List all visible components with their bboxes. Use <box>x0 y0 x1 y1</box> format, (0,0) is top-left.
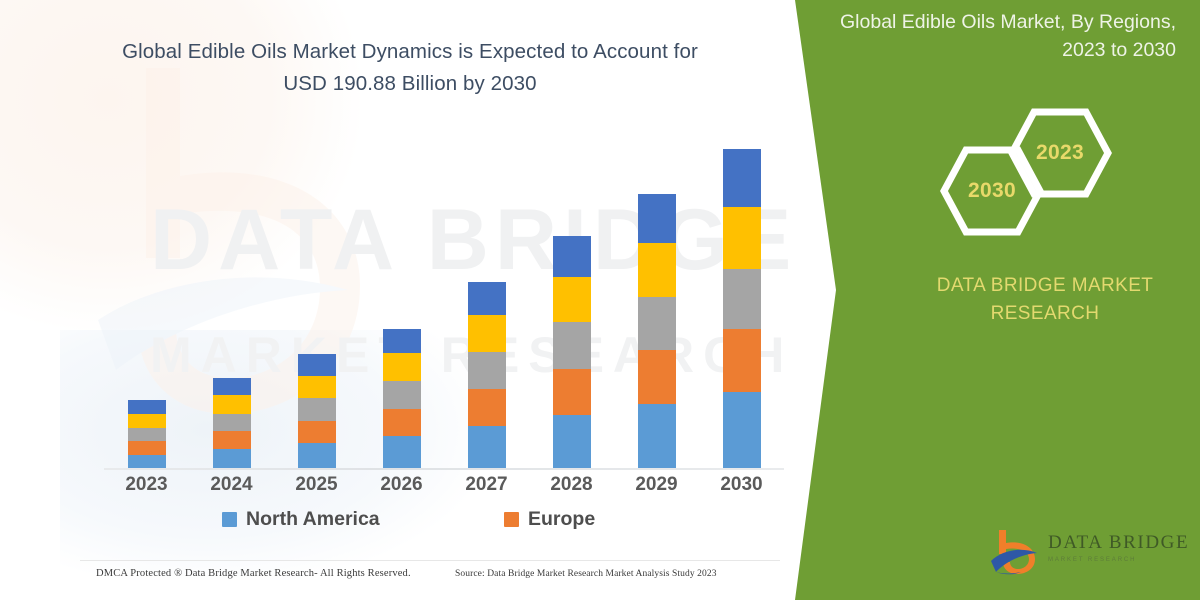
bar-segment <box>213 414 251 431</box>
bar-segment <box>723 207 761 270</box>
bar-segment <box>213 431 251 448</box>
bar-segment <box>468 282 506 315</box>
stacked-bar-chart <box>104 140 784 470</box>
infographic-canvas: DATA BRIDGE MARKET RESEARCH Global Edibl… <box>0 0 1200 600</box>
bar-segment <box>723 149 761 206</box>
source-note: Source: Data Bridge Market Research Mark… <box>455 569 717 579</box>
bar-2029 <box>638 194 676 468</box>
bar-segment <box>468 389 506 426</box>
bar-2030 <box>723 149 761 468</box>
bar-segment <box>638 350 676 404</box>
bar-2026 <box>383 329 421 468</box>
x-axis-labels: 20232024202520262027202820292030 <box>104 474 784 504</box>
x-axis-label-2026: 2026 <box>367 474 437 496</box>
bar-2027 <box>468 282 506 468</box>
bar-segment <box>383 329 421 354</box>
bar-segment <box>128 455 166 468</box>
brand-name: DATA BRIDGE MARKET RESEARCH <box>905 272 1185 327</box>
bar-segment <box>468 426 506 468</box>
legend-swatch-icon <box>504 512 519 527</box>
bar-segment <box>298 443 336 468</box>
page-title: Global Edible Oils Market Dynamics is Ex… <box>70 36 750 100</box>
legend-swatch-icon <box>222 512 237 527</box>
bar-segment <box>553 236 591 277</box>
legend-item-north-america[interactable]: North America <box>222 508 380 531</box>
bar-segment <box>638 404 676 468</box>
x-axis-line <box>104 468 784 470</box>
data-bridge-logo-icon <box>990 528 1042 576</box>
x-axis-label-2030: 2030 <box>707 474 777 496</box>
x-axis-label-2024: 2024 <box>197 474 267 496</box>
bar-segment <box>383 381 421 409</box>
chart-legend: North AmericaEurope <box>104 508 784 542</box>
bar-segment <box>298 398 336 421</box>
x-axis-label-2029: 2029 <box>622 474 692 496</box>
bar-segment <box>723 392 761 468</box>
bar-segment <box>128 414 166 428</box>
x-axis-label-2028: 2028 <box>537 474 607 496</box>
legend-label: Europe <box>528 508 595 531</box>
logo-name: DATA BRIDGE <box>1048 532 1189 554</box>
bar-segment <box>553 322 591 368</box>
bar-segment <box>468 352 506 389</box>
bar-segment <box>213 449 251 468</box>
bar-2024 <box>213 378 251 468</box>
bar-segment <box>553 369 591 415</box>
hexagon-badge-2030: 2030 <box>940 146 1044 236</box>
bar-segment <box>298 354 336 376</box>
bar-2025 <box>298 354 336 468</box>
bar-segment <box>128 441 166 454</box>
bar-segment <box>298 421 336 444</box>
footer-divider <box>80 560 780 561</box>
bar-segment <box>383 409 421 437</box>
bar-segment <box>553 277 591 322</box>
legend-item-europe[interactable]: Europe <box>504 508 595 531</box>
brand-panel-heading-line-1: Global Edible Oils Market, By Regions, <box>816 8 1176 36</box>
bar-segment <box>383 436 421 468</box>
hexagon-badge-2030-label: 2030 <box>968 179 1016 203</box>
bar-segment <box>468 315 506 352</box>
x-axis-label-2027: 2027 <box>452 474 522 496</box>
bar-segment <box>213 395 251 413</box>
brand-panel-heading: Global Edible Oils Market, By Regions, 2… <box>816 8 1176 65</box>
bar-segment <box>383 353 421 381</box>
data-bridge-logo: DATA BRIDGE MARKET RESEARCH <box>990 528 1190 578</box>
bar-2028 <box>553 236 591 468</box>
x-axis-label-2023: 2023 <box>112 474 182 496</box>
bar-segment <box>638 297 676 350</box>
logo-tagline: MARKET RESEARCH <box>1048 557 1189 563</box>
x-axis-label-2025: 2025 <box>282 474 352 496</box>
bar-segment <box>723 329 761 393</box>
brand-panel-heading-line-2: 2023 to 2030 <box>816 36 1176 64</box>
bar-segment <box>128 428 166 441</box>
page-title-line-2: USD 190.88 Billion by 2030 <box>70 68 750 100</box>
bar-segment <box>128 400 166 413</box>
bar-segment <box>553 415 591 468</box>
bar-segment <box>638 194 676 242</box>
hexagon-badges: 2023 2030 <box>930 108 1130 228</box>
data-bridge-logo-text: DATA BRIDGE MARKET RESEARCH <box>1048 532 1189 563</box>
legend-label: North America <box>246 508 380 531</box>
page-title-line-1: Global Edible Oils Market Dynamics is Ex… <box>70 36 750 68</box>
bar-segment <box>298 376 336 399</box>
brand-name-line-1: DATA BRIDGE MARKET <box>905 272 1185 300</box>
bar-segment <box>723 269 761 328</box>
bar-segment <box>213 378 251 395</box>
brand-name-line-2: RESEARCH <box>905 300 1185 328</box>
bar-2023 <box>128 400 166 468</box>
bar-segment <box>638 243 676 297</box>
dmca-notice: DMCA Protected ® Data Bridge Market Rese… <box>96 568 411 579</box>
